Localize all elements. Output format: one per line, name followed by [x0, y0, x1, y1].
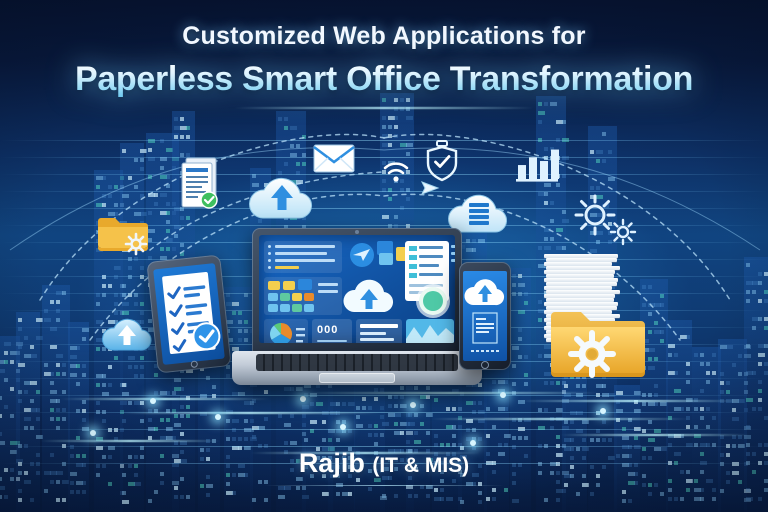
- phone-home-button[interactable]: [481, 361, 489, 369]
- banner-image: Customized Web Applications for Paperles…: [0, 0, 768, 512]
- author-role: (IT & MIS): [372, 454, 469, 477]
- headline-block: Customized Web Applications for Paperles…: [0, 22, 768, 109]
- tablet-screen: [153, 263, 225, 365]
- bar-chart-icon: [514, 144, 560, 186]
- task-list-panel: [264, 241, 342, 273]
- folder-gear-large-icon: [548, 302, 652, 386]
- tablet[interactable]: [146, 254, 231, 373]
- pie-chart-panel: [264, 319, 308, 343]
- send-panel: [349, 242, 375, 268]
- document-check-icon: [178, 155, 222, 211]
- checklist-document-icon: [153, 263, 225, 365]
- laptop-trackpad[interactable]: [319, 373, 395, 383]
- grid-tiles-panel: [264, 277, 342, 315]
- title-divider: [234, 107, 534, 109]
- laptop-camera: [355, 230, 359, 234]
- gear-small-icon: [609, 218, 637, 246]
- wifi-icon: [382, 160, 410, 184]
- cloud-upload-small-icon: [98, 312, 156, 354]
- author-line: Rajib (IT & MIS): [0, 448, 768, 479]
- laptop-lid: 000: [252, 228, 462, 353]
- smartphone[interactable]: [459, 262, 511, 370]
- area-chart-panel: [406, 319, 454, 343]
- counter-panel: 000: [312, 319, 352, 343]
- laptop-keyboard[interactable]: [256, 354, 458, 371]
- footer-block: Rajib (IT & MIS): [0, 448, 768, 486]
- shield-check-icon: [425, 140, 459, 182]
- phone-screen: [463, 271, 507, 361]
- page-subtitle: Customized Web Applications for: [0, 22, 768, 51]
- page-title: Paperless Smart Office Transformation: [0, 60, 768, 99]
- cloud-upload-icon: [243, 168, 321, 224]
- tablet-home-button[interactable]: [190, 360, 198, 368]
- status-circle: [419, 287, 447, 315]
- cloud-upload-panel: [339, 275, 401, 317]
- text-lines-panel: [356, 319, 402, 343]
- footer-divider: [264, 485, 504, 486]
- author-name: Rajib: [299, 448, 365, 478]
- counter-value: 000: [317, 324, 338, 336]
- envelope-icon: [313, 142, 355, 174]
- cloud-upload-document-icon: [463, 271, 507, 361]
- laptop-base: [232, 351, 482, 385]
- laptop-screen: 000: [259, 235, 455, 343]
- folder-gear-icon: [96, 213, 152, 257]
